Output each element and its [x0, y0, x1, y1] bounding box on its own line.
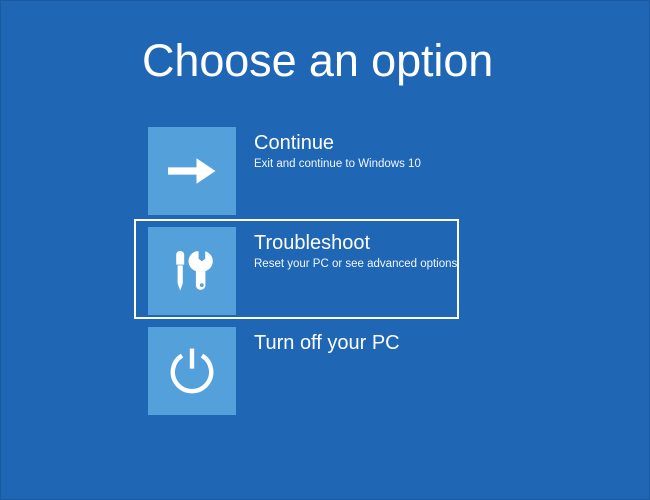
option-troubleshoot-subtitle: Reset your PC or see advanced options: [254, 256, 457, 273]
screwdriver-wrench-icon: [168, 247, 216, 295]
option-turn-off-pc-text: Turn off your PC: [236, 327, 457, 356]
choose-an-option-screen: Choose an option Continue Exit and conti…: [0, 0, 650, 500]
option-turn-off-pc[interactable]: Turn off your PC: [134, 319, 459, 419]
page-title: Choose an option: [142, 33, 493, 89]
option-continue-text: Continue Exit and continue to Windows 10: [236, 127, 457, 173]
option-troubleshoot-tile[interactable]: [148, 227, 236, 315]
option-troubleshoot[interactable]: Troubleshoot Reset your PC or see advanc…: [134, 219, 459, 319]
options-list: Continue Exit and continue to Windows 10: [1, 119, 650, 419]
power-icon: [167, 346, 217, 396]
option-continue-subtitle: Exit and continue to Windows 10: [254, 156, 457, 173]
arrow-right-icon: [166, 151, 218, 191]
option-continue-tile[interactable]: [148, 127, 236, 215]
option-troubleshoot-title: Troubleshoot: [254, 230, 457, 256]
option-troubleshoot-text: Troubleshoot Reset your PC or see advanc…: [236, 227, 457, 273]
option-turn-off-pc-title: Turn off your PC: [254, 330, 457, 356]
option-turn-off-pc-tile[interactable]: [148, 327, 236, 415]
option-continue-title: Continue: [254, 130, 457, 156]
option-continue[interactable]: Continue Exit and continue to Windows 10: [134, 119, 459, 219]
